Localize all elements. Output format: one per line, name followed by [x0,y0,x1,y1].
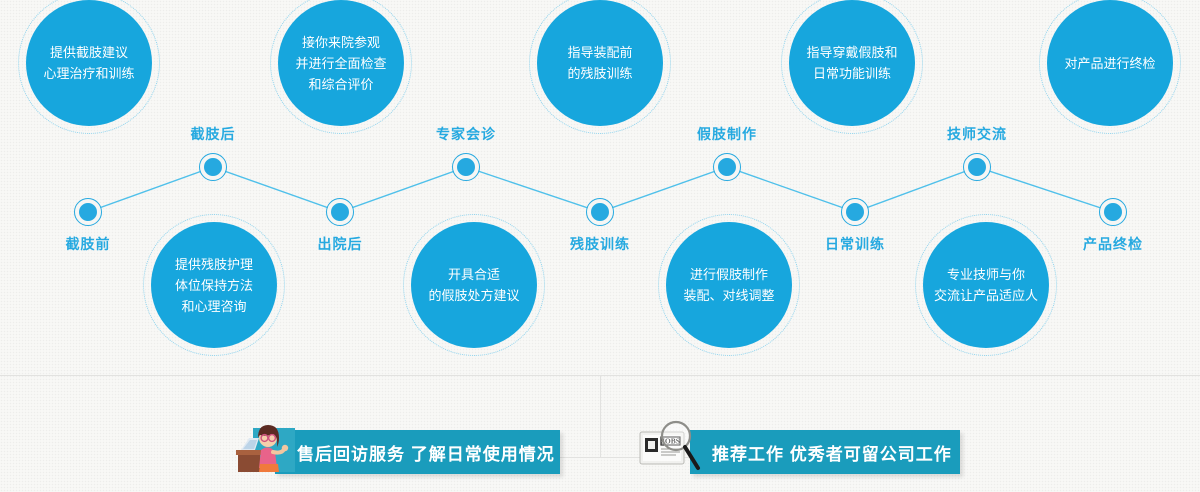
info-bubble-line: 日常功能训练 [806,63,897,84]
info-bubble: 开具合适的假肢处方建议 [403,214,545,356]
flow-node-label-n7: 日常训练 [825,234,885,254]
info-bubble-disc: 指导装配前的残肢训练 [537,0,663,126]
info-bubble-text: 指导装配前的残肢训练 [561,42,638,84]
info-bubble-disc: 提供残肢护理体位保持方法和心理咨询 [151,222,277,348]
info-bubble-line: 的残肢训练 [567,63,632,84]
info-bubble-line: 开具合适 [428,264,519,285]
info-bubble-text: 提供残肢护理体位保持方法和心理咨询 [169,254,259,317]
jobs-magnifier-icon: JOBS [638,416,702,479]
flow-node-n2[interactable] [200,154,226,180]
flow-node-n5[interactable] [587,199,613,225]
info-bubble-text: 提供截肢建议心理治疗和训练 [37,42,140,84]
info-bubble-text: 指导穿戴假肢和日常功能训练 [800,42,903,84]
flow-node-n4[interactable] [453,154,479,180]
infographic-stage: 提供截肢建议心理治疗和训练提供残肢护理体位保持方法和心理咨询接你来院参观并进行全… [0,0,1200,492]
info-bubble-line: 接你来院参观 [295,32,386,53]
info-bubble: 专业技师与你交流让产品适应人 [915,214,1057,356]
flow-node-n3[interactable] [327,199,353,225]
info-bubble-disc: 接你来院参观并进行全面检查和综合评价 [278,0,404,126]
flow-node-n8[interactable] [964,154,990,180]
info-bubble-text: 接你来院参观并进行全面检查和综合评价 [289,32,392,95]
banner-label: 推荐工作 优秀者可留公司工作 [712,440,952,465]
info-bubble-disc: 指导穿戴假肢和日常功能训练 [789,0,915,126]
info-bubble-disc: 开具合适的假肢处方建议 [411,222,537,348]
info-bubble-text: 开具合适的假肢处方建议 [422,264,525,306]
info-bubble-disc: 专业技师与你交流让产品适应人 [923,222,1049,348]
info-bubble-text: 专业技师与你交流让产品适应人 [928,264,1044,306]
info-bubble-line: 体位保持方法 [175,275,253,296]
flow-node-label-n9: 产品终检 [1083,234,1143,254]
info-bubble-line: 装配、对线调整 [683,285,774,306]
info-bubble-disc: 进行假肢制作装配、对线调整 [666,222,792,348]
flow-node-label-n2: 截肢后 [191,124,236,144]
info-bubble-line: 和综合评价 [295,74,386,95]
info-bubble-line: 专业技师与你 [934,264,1038,285]
flow-node-label-n8: 技师交流 [947,124,1007,144]
info-bubble-line: 并进行全面检查 [295,53,386,74]
flow-node-n7[interactable] [842,199,868,225]
flow-node-label-n1: 截肢前 [66,234,111,254]
flow-node-label-n5: 残肢训练 [570,234,630,254]
info-bubble-line: 心理治疗和训练 [43,63,134,84]
flow-node-n9[interactable] [1100,199,1126,225]
info-bubble-text: 对产品进行终检 [1058,53,1161,74]
info-bubble: 进行假肢制作装配、对线调整 [658,214,800,356]
info-bubble-line: 交流让产品适应人 [934,285,1038,306]
section-divider-vertical [600,375,601,457]
woman-at-desk-icon [235,414,295,481]
flow-node-n6[interactable] [714,154,740,180]
info-bubble-line: 对产品进行终检 [1064,53,1155,74]
jobs-magnifier-icon: JOBS [638,416,702,474]
flow-node-label-n3: 出院后 [318,234,363,254]
info-bubble-line: 进行假肢制作 [683,264,774,285]
woman-at-desk-icon [235,414,295,476]
banner-label: 售后回访服务 了解日常使用情况 [297,440,555,465]
info-bubble: 提供残肢护理体位保持方法和心理咨询 [143,214,285,356]
info-bubble-disc: 提供截肢建议心理治疗和训练 [26,0,152,126]
info-bubble-line: 提供残肢护理 [175,254,253,275]
info-bubble-disc: 对产品进行终检 [1047,0,1173,126]
banner-jobs[interactable]: JOBS推荐工作 优秀者可留公司工作 [690,430,960,474]
flow-node-label-n4: 专家会诊 [436,124,496,144]
info-bubble-text: 进行假肢制作装配、对线调整 [677,264,780,306]
info-bubble-line: 的假肢处方建议 [428,285,519,306]
info-bubble-line: 指导穿戴假肢和 [806,42,897,63]
info-bubble-line: 指导装配前 [567,42,632,63]
flow-node-label-n6: 假肢制作 [697,124,757,144]
banner-aftersales[interactable]: 售后回访服务 了解日常使用情况 [275,430,560,474]
info-bubble-line: 提供截肢建议 [43,42,134,63]
info-bubble-line: 和心理咨询 [175,296,253,317]
flow-node-n1[interactable] [75,199,101,225]
